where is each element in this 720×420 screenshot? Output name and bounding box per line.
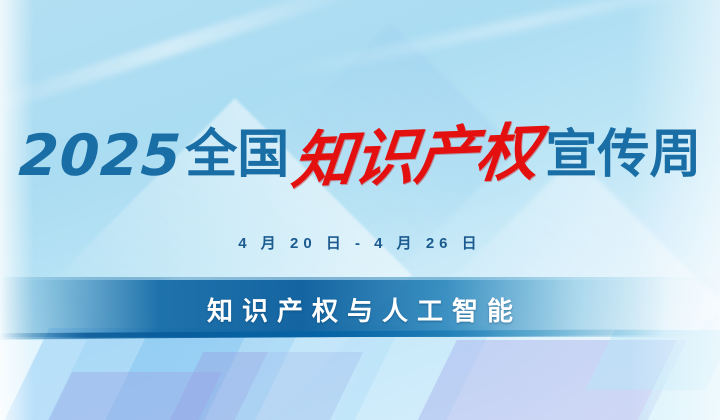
headline-year: 2025 bbox=[17, 128, 183, 185]
poster-headline: 2025全国知识产权宣传周 bbox=[0, 126, 720, 188]
headline-tail-text: 宣传周 bbox=[545, 129, 701, 181]
poster-subtitle: 知识产权与人工智能 bbox=[0, 291, 720, 328]
poster-canvas: 2025全国知识产权宣传周 4 月 20 日 - 4 月 26 日 知识产权与人… bbox=[0, 0, 720, 420]
poster-content: 2025全国知识产权宣传周 4 月 20 日 - 4 月 26 日 知识产权与人… bbox=[0, 0, 720, 420]
headline-lead-text: 全国 bbox=[185, 129, 289, 181]
event-date-range: 4 月 20 日 - 4 月 26 日 bbox=[0, 232, 720, 253]
headline-emphasis-text: 知识产权 bbox=[290, 121, 541, 192]
